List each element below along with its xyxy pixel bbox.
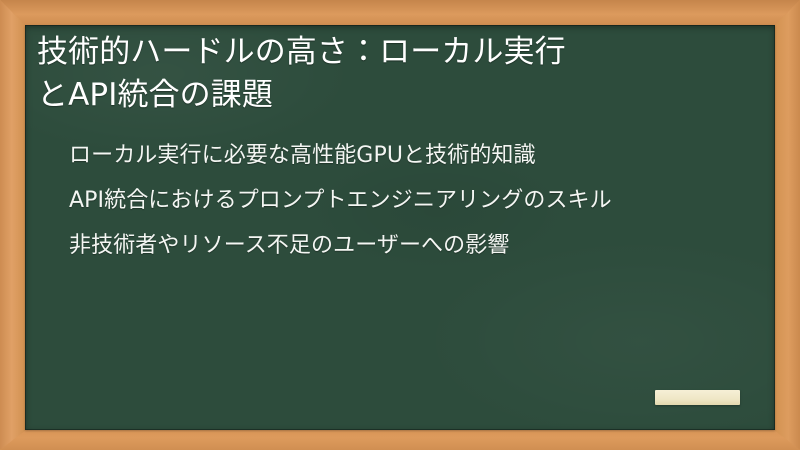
frame-top-rail: [0, 0, 800, 26]
frame-bottom-rail: [0, 430, 800, 450]
board-content: 技術的ハードルの高さ：ローカル実行とAPI統合の課題 ローカル実行に必要な高性能…: [25, 25, 775, 262]
frame-left-rail: [0, 0, 26, 450]
chalkboard-slide: 技術的ハードルの高さ：ローカル実行とAPI統合の課題 ローカル実行に必要な高性能…: [0, 0, 800, 450]
list-item: ローカル実行に必要な高性能GPUと技術的知識: [69, 140, 709, 172]
frame-right-rail: [774, 0, 800, 450]
slide-title: 技術的ハードルの高さ：ローカル実行とAPI統合の課題: [37, 31, 753, 118]
slide-title-line-2: とAPI統合の課題: [37, 77, 273, 113]
bullet-list: ローカル実行に必要な高性能GPUと技術的知識 API統合におけるプロンプトエンジ…: [37, 140, 753, 262]
slide-title-line-1: 技術的ハードルの高さ：ローカル実行: [37, 34, 566, 70]
chalk-stick: [655, 390, 740, 405]
list-item: API統合におけるプロンプトエンジニアリングのスキル: [69, 185, 709, 217]
list-item: 非技術者やリソース不足のユーザーへの影響: [69, 230, 709, 262]
chalkboard-surface: 技術的ハードルの高さ：ローカル実行とAPI統合の課題 ローカル実行に必要な高性能…: [25, 25, 775, 430]
